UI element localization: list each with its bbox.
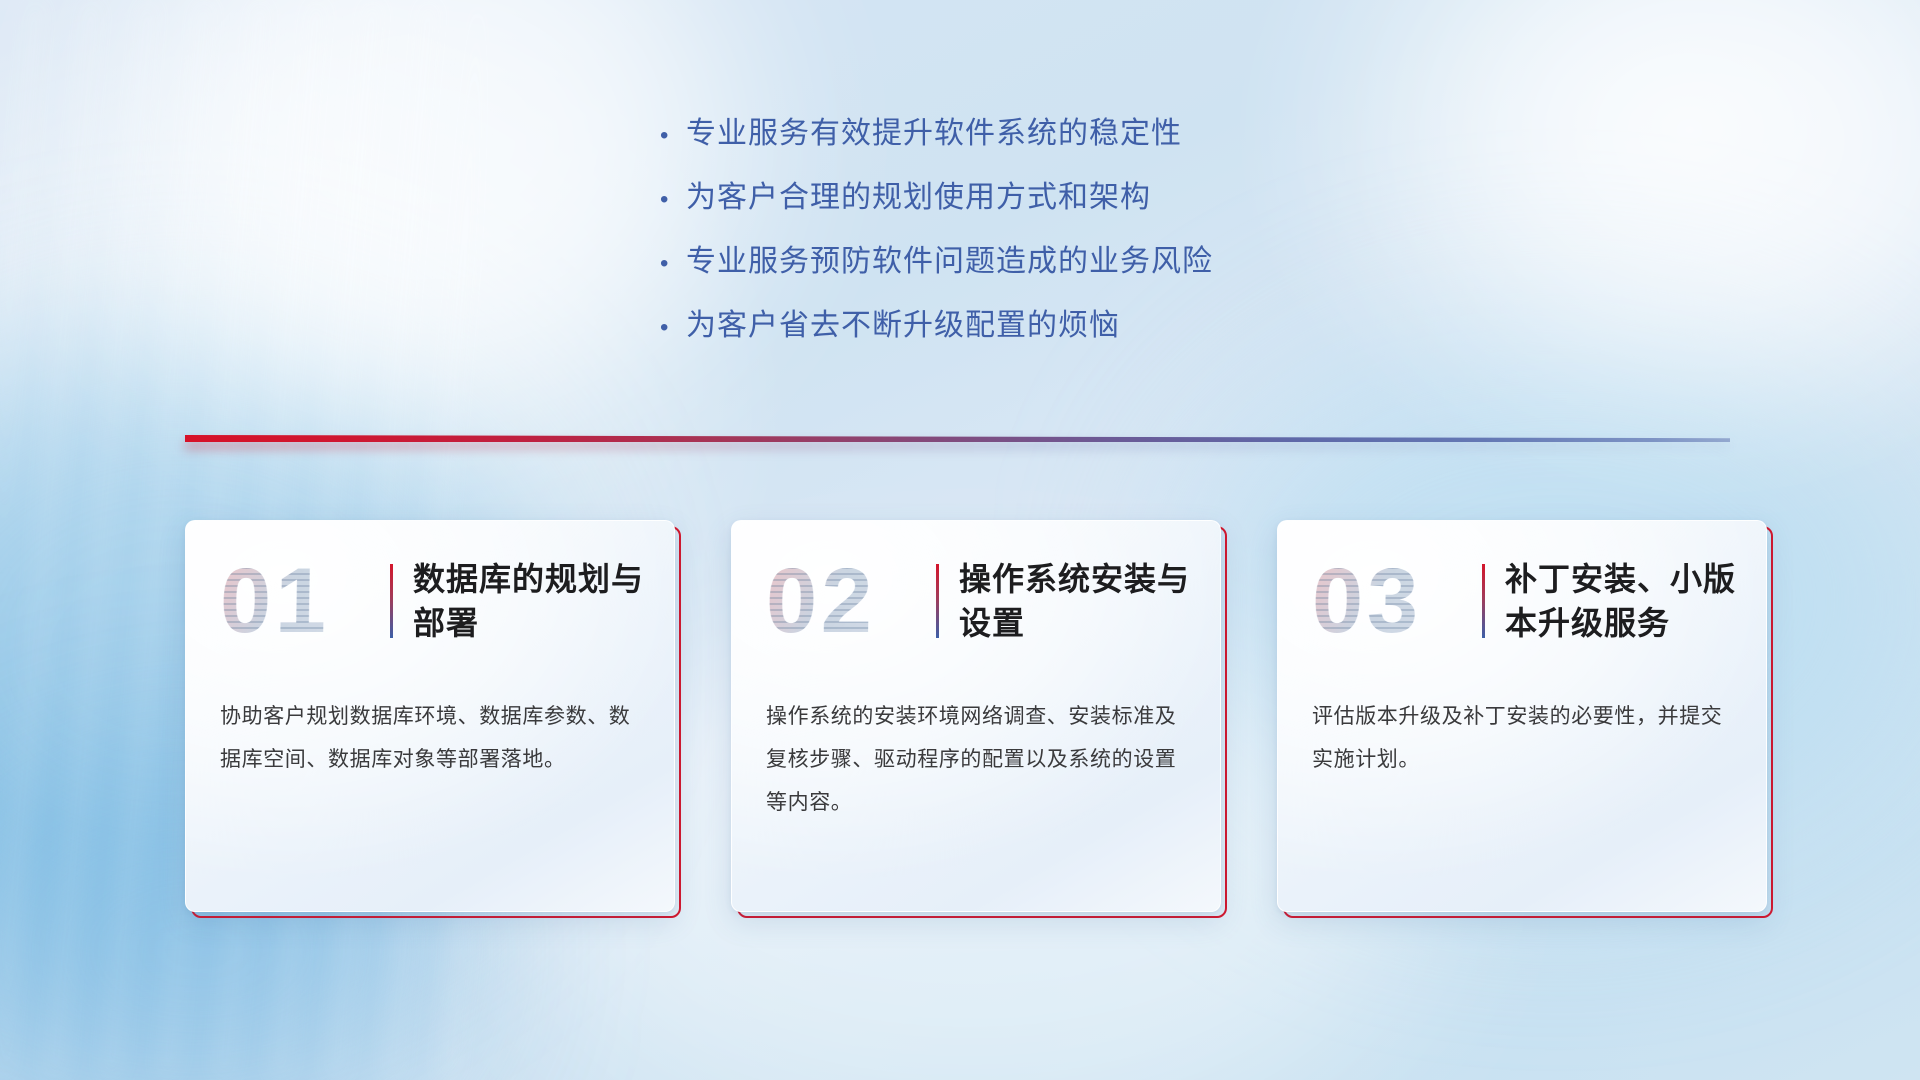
bullet-item-2: • 为客户合理的规划使用方式和架构 <box>660 172 1400 236</box>
bullet-marker-icon: • <box>660 124 686 148</box>
service-card-02-body: 02 操作系统安装与设置 操作系统的安装环境网络调查、安装标准及复核步骤、驱动程… <box>731 520 1221 912</box>
background-blob-2 <box>120 0 740 400</box>
service-card-03-title: 补丁安装、小版本升级服务 <box>1505 557 1740 645</box>
service-card-03-description: 评估版本升级及补丁安装的必要性，并提交实施计划。 <box>1278 681 1766 781</box>
bullet-marker-icon: • <box>660 188 686 212</box>
section-divider-line <box>185 435 1730 442</box>
bullet-item-1-label: 专业服务有效提升软件系统的稳定性 <box>686 108 1182 152</box>
service-card-02[interactable]: 02 操作系统安装与设置 操作系统的安装环境网络调查、安装标准及复核步骤、驱动程… <box>731 520 1221 912</box>
service-card-03[interactable]: 03 补丁安装、小版本升级服务 评估版本升级及补丁安装的必要性，并提交实施计划。 <box>1277 520 1767 912</box>
bullet-marker-icon: • <box>660 316 686 340</box>
bullet-item-2-label: 为客户合理的规划使用方式和架构 <box>686 172 1151 216</box>
section-divider-glow <box>185 441 1730 450</box>
slide-canvas: • 专业服务有效提升软件系统的稳定性 • 为客户合理的规划使用方式和架构 • 专… <box>0 0 1920 1080</box>
service-card-02-description: 操作系统的安装环境网络调查、安装标准及复核步骤、驱动程序的配置以及系统的设置等内… <box>732 681 1220 824</box>
service-card-03-header: 03 补丁安装、小版本升级服务 <box>1278 521 1766 681</box>
service-card-02-header: 02 操作系统安装与设置 <box>732 521 1220 681</box>
bullet-item-4: • 为客户省去不断升级配置的烦恼 <box>660 300 1400 364</box>
bullet-marker-icon: • <box>660 252 686 276</box>
benefits-bullet-list: • 专业服务有效提升软件系统的稳定性 • 为客户合理的规划使用方式和架构 • 专… <box>660 108 1400 364</box>
background-blob-5 <box>1430 0 1920 370</box>
section-divider <box>185 432 1730 446</box>
bullet-item-1: • 专业服务有效提升软件系统的稳定性 <box>660 108 1400 172</box>
service-card-01-header: 01 数据库的规划与部署 <box>186 521 674 681</box>
bullet-item-3-label: 专业服务预防软件问题造成的业务风险 <box>686 236 1213 280</box>
service-card-01-number: 01 <box>219 555 391 647</box>
service-card-01-title: 数据库的规划与部署 <box>413 557 648 645</box>
service-card-02-number: 02 <box>765 555 937 647</box>
bullet-item-4-label: 为客户省去不断升级配置的烦恼 <box>686 300 1120 344</box>
bullet-item-3: • 专业服务预防软件问题造成的业务风险 <box>660 236 1400 300</box>
service-card-01[interactable]: 01 数据库的规划与部署 协助客户规划数据库环境、数据库参数、数据库空间、数据库… <box>185 520 675 912</box>
service-card-01-description: 协助客户规划数据库环境、数据库参数、数据库空间、数据库对象等部署落地。 <box>186 681 674 781</box>
service-card-01-body: 01 数据库的规划与部署 协助客户规划数据库环境、数据库参数、数据库空间、数据库… <box>185 520 675 912</box>
service-card-03-body: 03 补丁安装、小版本升级服务 评估版本升级及补丁安装的必要性，并提交实施计划。 <box>1277 520 1767 912</box>
service-card-03-number: 03 <box>1311 555 1483 647</box>
service-card-02-title: 操作系统安装与设置 <box>959 557 1194 645</box>
service-card-list: 01 数据库的规划与部署 协助客户规划数据库环境、数据库参数、数据库空间、数据库… <box>185 520 1767 912</box>
